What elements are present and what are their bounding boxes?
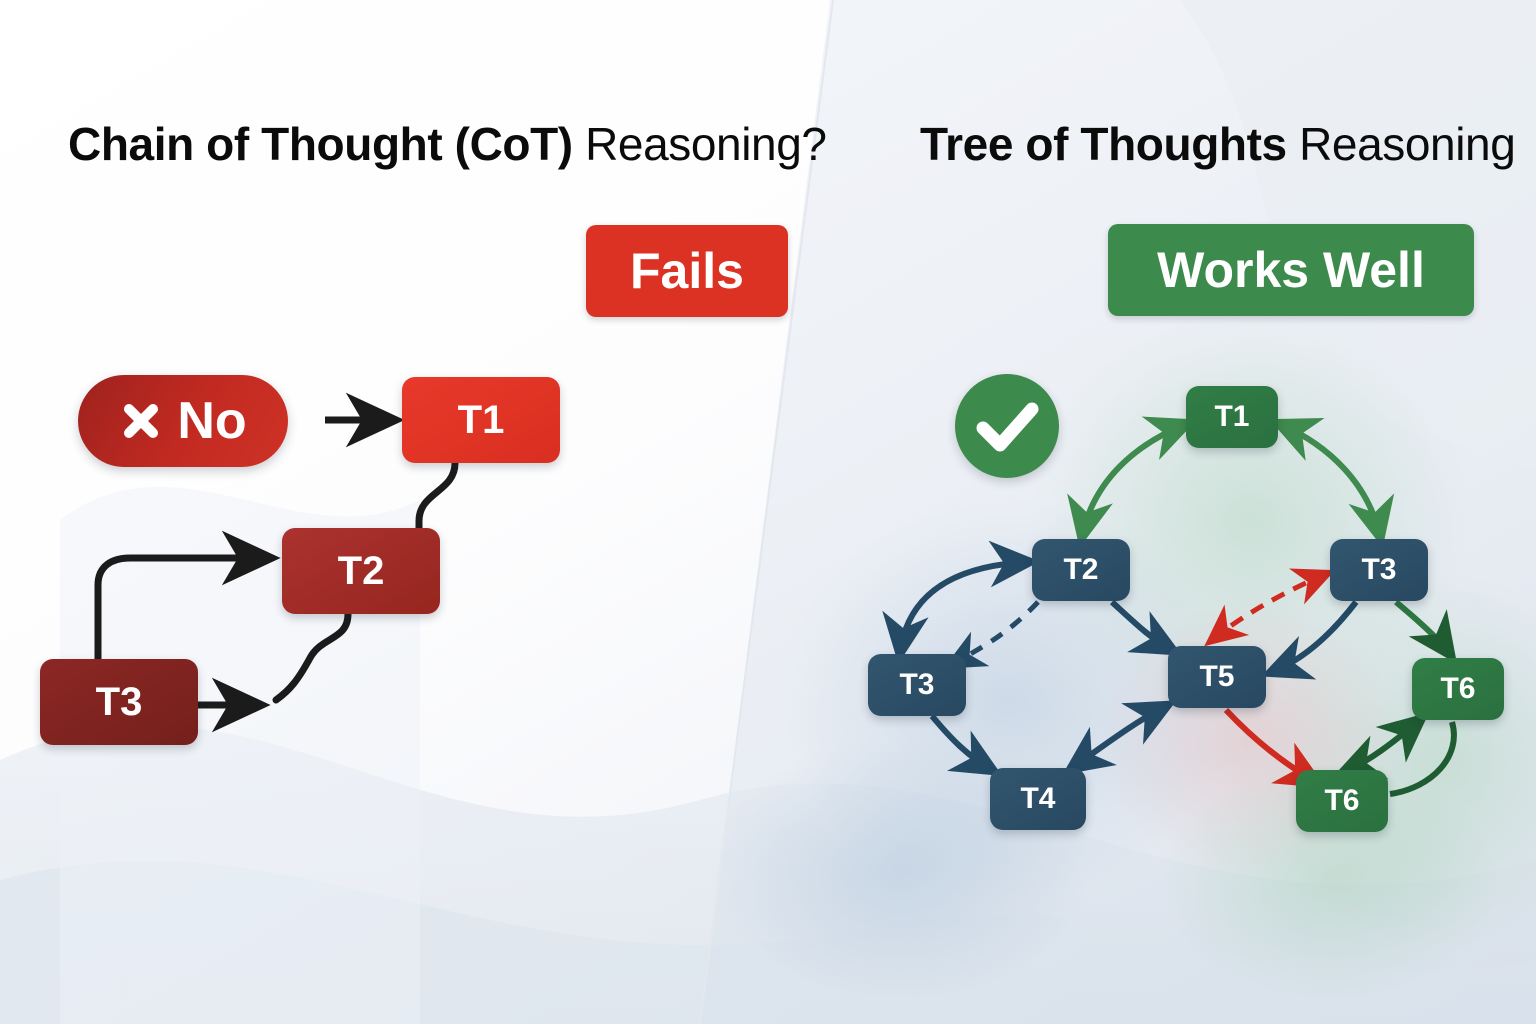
infographic-canvas: Chain of Thought (CoT) Reasoning? Tree o… bbox=[0, 0, 1536, 1024]
node-right-t3-upper: T3 bbox=[1330, 539, 1428, 601]
left-panel-title: Chain of Thought (CoT) Reasoning? bbox=[68, 117, 827, 171]
right-title-regular: Reasoning bbox=[1287, 118, 1516, 170]
node-right-t6-upper: T6 bbox=[1412, 658, 1504, 720]
no-label: No bbox=[177, 395, 246, 447]
node-right-t5: T5 bbox=[1168, 646, 1266, 708]
node-left-t2: T2 bbox=[282, 528, 440, 614]
no-status-pill: No bbox=[78, 375, 288, 467]
right-title-bold: Tree of Thoughts bbox=[920, 118, 1287, 170]
check-circle-icon bbox=[955, 374, 1059, 478]
node-left-t1: T1 bbox=[402, 377, 560, 463]
fails-badge: Fails bbox=[586, 225, 788, 317]
node-left-t3: T3 bbox=[40, 659, 198, 745]
node-right-t4: T4 bbox=[990, 768, 1086, 830]
right-panel-title: Tree of Thoughts Reasoning bbox=[920, 117, 1515, 171]
x-mark-icon bbox=[119, 399, 163, 443]
node-right-t6-lower: T6 bbox=[1296, 770, 1388, 832]
node-right-t1: T1 bbox=[1186, 386, 1278, 448]
left-title-bold: Chain of Thought (CoT) bbox=[68, 118, 573, 170]
node-right-t3-left: T3 bbox=[868, 654, 966, 716]
node-right-t2: T2 bbox=[1032, 539, 1130, 601]
works-well-badge: Works Well bbox=[1108, 224, 1474, 316]
left-title-regular: Reasoning? bbox=[573, 118, 827, 170]
